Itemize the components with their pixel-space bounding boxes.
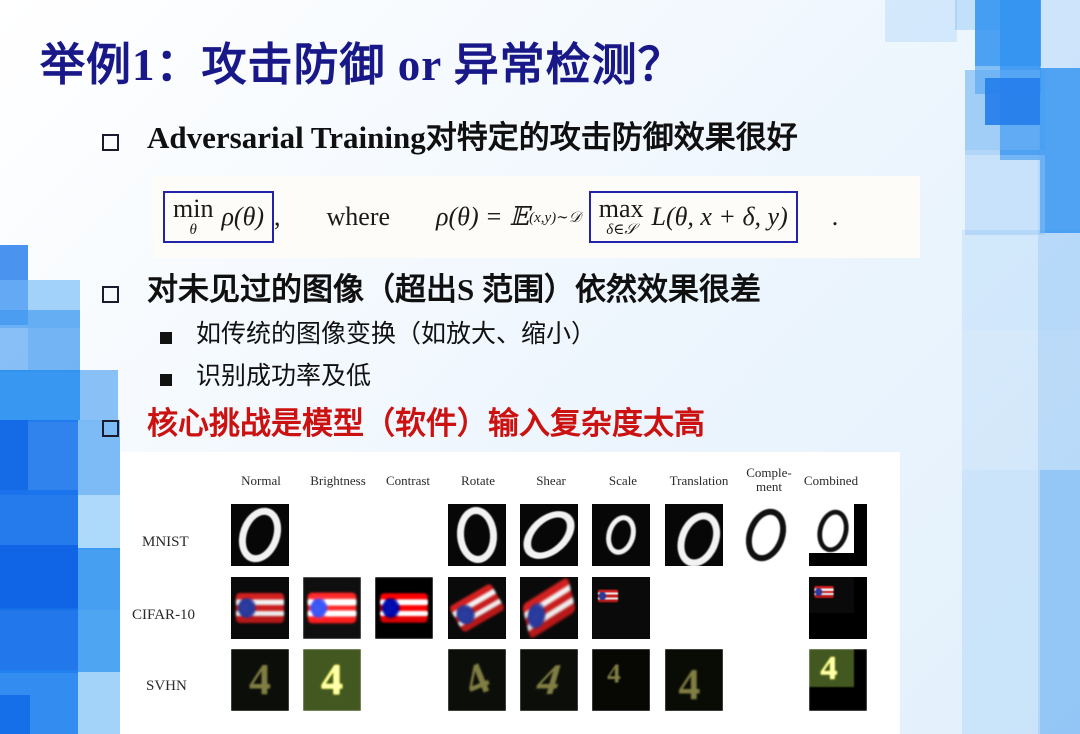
deco-block [0,370,80,422]
formula-comma: , [274,202,281,232]
digit-zero-glyph [602,512,641,559]
cell-cifar-scale [592,577,650,639]
car-glyph [380,593,428,623]
cell-mnist-contrast [375,504,433,566]
deco-block [975,0,1041,66]
page-title: 举例1：攻击防御 or 异常检测？ [40,28,684,93]
cell-cifar-translation [665,577,723,639]
figure-grid: Normal Brightness Contrast Rotate Shear … [120,452,900,734]
digit-zero-glyph [455,506,499,565]
cell-cifar-brightness [303,577,361,639]
sub-bullet-label: 识别成功率及低 [196,363,371,392]
svhn-digit-thumb: 4 [592,649,650,711]
digit-four-glyph: 4 [321,658,343,702]
black-corner-overlay [809,649,867,711]
rho-theta-lhs: ρ(θ) [436,202,479,232]
formula-panel: min θ ρ(θ) , where ρ(θ) = 𝔼 (x,y)∼𝒟 max … [153,176,920,258]
deco-block [0,545,78,610]
svhn-digit-thumb: 4 [520,649,578,711]
expectation-symbol: 𝔼 [509,202,529,232]
cifar-car-thumb [520,577,578,639]
cell-mnist-scale [592,504,650,566]
cell-svhn-complement [737,649,795,711]
car-glyph [308,593,356,623]
cell-svhn-contrast [375,649,433,711]
cell-mnist-normal [231,504,289,566]
deco-block [0,608,78,673]
bullet-label-highlight: 核心挑战是模型（软件）输入复杂度太高 [147,406,705,442]
bullet-item-3: 核心挑战是模型（软件）输入复杂度太高 [102,406,705,442]
sub-bullet-label: 如传统的图像变换（如放大、缩小） [196,321,596,350]
cifar-car-combined-thumb [809,577,867,639]
formula-period: . [832,202,839,232]
cell-mnist-brightness [303,504,361,566]
column-header-normal: Normal [230,474,292,488]
deco-block [1038,0,1080,734]
mnist-digit-thumb [231,504,289,566]
deco-block [962,330,1080,470]
sub-bullet-item-2: 识别成功率及低 [160,363,371,392]
deco-block [955,0,1000,30]
deco-block [965,155,1045,235]
deco-block [0,310,80,372]
column-header-scale: Scale [592,474,654,488]
filled-square-bullet-icon [160,374,172,386]
cell-mnist-combined [809,504,867,566]
transformation-figure: Normal Brightness Contrast Rotate Shear … [120,452,900,734]
deco-block [0,370,118,422]
deco-block [962,230,1080,330]
row-header-cifar10: CIFAR-10 [132,607,195,624]
digit-four-glyph: 4 [678,663,700,707]
deco-block [1000,0,1040,160]
mnist-digit-thumb [665,504,723,566]
deco-block [885,0,957,42]
cell-svhn-shear: 4 [520,649,578,711]
deco-block [28,280,80,370]
equals-sign: = [487,202,502,232]
column-header-contrast: Contrast [375,474,441,488]
car-glyph [236,593,284,623]
digit-four-glyph: 4 [249,658,271,702]
deco-block [0,420,28,495]
min-operator-subscript: θ [190,223,197,238]
expectation-subscript: (x,y)∼𝒟 [529,208,581,227]
digit-four-glyph: 4 [532,658,567,702]
digit-four-glyph: 4 [607,660,621,687]
deco-block [1040,470,1080,734]
digit-zero-glyph [670,506,723,566]
car-glyph [522,577,576,639]
slide-canvas: 举例1：攻击防御 or 异常检测？ Adversarial Training对特… [0,0,1080,734]
black-corner-overlay [809,577,867,639]
max-body: L(θ, x + δ, y) [652,202,788,232]
cifar-car-thumb [592,577,650,639]
deco-block [78,610,120,672]
complement-line-1: Comple- [746,465,792,480]
cifar-car-thumb [375,577,433,639]
cell-cifar-normal [231,577,289,639]
bullet-item-1: Adversarial Training对特定的攻击防御效果很好 [102,120,798,156]
deco-block [985,78,1040,125]
deco-block [962,470,1080,734]
svhn-digit-thumb: 4 [303,649,361,711]
digit-zero-glyph [520,504,578,566]
cell-cifar-contrast [375,577,433,639]
max-operator-subscript: δ∈𝒮 [606,223,636,238]
cell-svhn-rotate: 4 [448,649,506,711]
max-operator: max δ∈𝒮 [599,196,644,238]
mnist-digit-thumb [592,504,650,566]
deco-block [0,695,30,734]
bullet-item-2: 对未见过的图像（超出S 范围）依然效果很差 [102,272,761,308]
min-operator-label: min [173,196,213,222]
cell-mnist-rotate [448,504,506,566]
min-body: ρ(θ) [221,202,264,232]
deco-block [0,245,28,325]
digit-four-glyph: 4 [459,655,496,704]
mnist-digit-inverted-thumb [737,504,795,566]
deco-block [965,70,1045,150]
mnist-digit-thumb [520,504,578,566]
row-header-svhn: SVHN [146,678,187,695]
deco-block [965,70,1040,155]
sub-bullet-item-1: 如传统的图像变换（如放大、缩小） [160,321,596,350]
cell-svhn-translation: 4 [665,649,723,711]
deco-block [78,548,120,610]
cell-mnist-shear [520,504,578,566]
mnist-digit-combined-thumb [809,504,867,566]
svhn-digit-thumb: 4 [665,649,723,711]
bullet-label: 对未见过的图像（超出S 范围）依然效果很差 [147,272,761,308]
deco-block [0,670,78,734]
svhn-digit-thumb: 4 [231,649,289,711]
cell-svhn-scale: 4 [592,649,650,711]
cell-cifar-complement [737,577,795,639]
formula-box-max: max δ∈𝒮 L(θ, x + δ, y) [589,191,798,243]
complement-line-2: ment [756,479,782,494]
deco-block [78,672,120,734]
cell-cifar-combined [809,577,867,639]
hollow-square-bullet-icon [102,420,119,437]
deco-block [0,490,78,610]
mnist-digit-thumb [448,504,506,566]
formula-box-min: min θ ρ(θ) [163,191,274,243]
formula-where-label: where [327,202,391,232]
formula-expression: min θ ρ(θ) , where ρ(θ) = 𝔼 (x,y)∼𝒟 max … [153,191,838,243]
cell-svhn-combined: 4 [809,649,867,711]
cell-cifar-shear [520,577,578,639]
deco-block [1040,68,1080,233]
bullet-label: Adversarial Training对特定的攻击防御效果很好 [147,120,798,156]
digit-zero-glyph [232,504,289,566]
deco-block [0,280,80,328]
cell-mnist-complement [737,504,795,566]
hollow-square-bullet-icon [102,134,119,151]
cell-svhn-normal: 4 [231,649,289,711]
column-header-shear: Shear [520,474,582,488]
row-header-mnist: MNIST [142,534,189,551]
cifar-car-thumb [448,577,506,639]
column-header-rotate: Rotate [447,474,509,488]
column-header-translation: Translation [660,474,738,488]
digit-zero-glyph [739,504,793,566]
car-glyph [449,583,506,633]
column-header-brightness: Brightness [302,474,374,488]
hollow-square-bullet-icon [102,286,119,303]
max-operator-label: max [599,196,644,222]
black-corner-overlay [809,504,867,566]
svhn-digit-combined-thumb: 4 [809,649,867,711]
filled-square-bullet-icon [160,332,172,344]
min-operator: min θ [173,196,213,238]
cifar-car-thumb [231,577,289,639]
deco-block [975,66,1041,94]
svhn-digit-thumb: 4 [448,649,506,711]
car-glyph [598,589,618,602]
cell-cifar-rotate [448,577,506,639]
column-header-combined: Combined [796,474,866,488]
cell-mnist-translation [665,504,723,566]
cifar-car-thumb [303,577,361,639]
cell-svhn-brightness: 4 [303,649,361,711]
column-header-complement: Comple- ment [740,466,798,495]
